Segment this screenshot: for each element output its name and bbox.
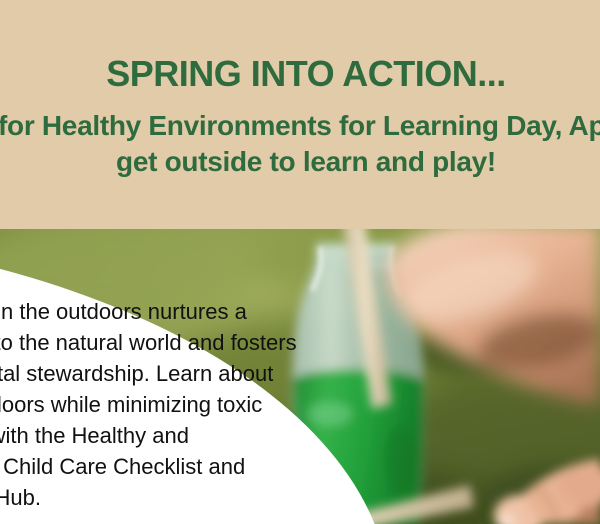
body-copy-line: Sustainable Child Care Checklist and xyxy=(0,451,302,482)
body-copy-line: Time spent in the outdoors nurtures a xyxy=(0,296,302,327)
page-subtitle: Join us for Healthy Environments for Lea… xyxy=(0,108,600,180)
page-title: SPRING INTO ACTION... xyxy=(0,56,600,92)
body-copy-line: Curriculum Hub. xyxy=(0,482,302,513)
body-copy-line: environmental stewardship. Learn about xyxy=(0,358,302,389)
body-copy: Time spent in the outdoors nurtures a co… xyxy=(0,296,302,513)
body-copy-line: exposures with the Healthy and xyxy=(0,420,302,451)
page-subtitle-line: Join us for Healthy Environments for Lea… xyxy=(0,108,600,144)
header-band: SPRING INTO ACTION... Join us for Health… xyxy=(0,0,600,229)
page-subtitle-line: get outside to learn and play! xyxy=(0,144,600,180)
poster-graphic: Time spent in the outdoors nurtures a co… xyxy=(0,0,600,524)
body-copy-line: connection to the natural world and fost… xyxy=(0,327,302,358)
body-copy-line: healthy outdoors while minimizing toxic xyxy=(0,389,302,420)
